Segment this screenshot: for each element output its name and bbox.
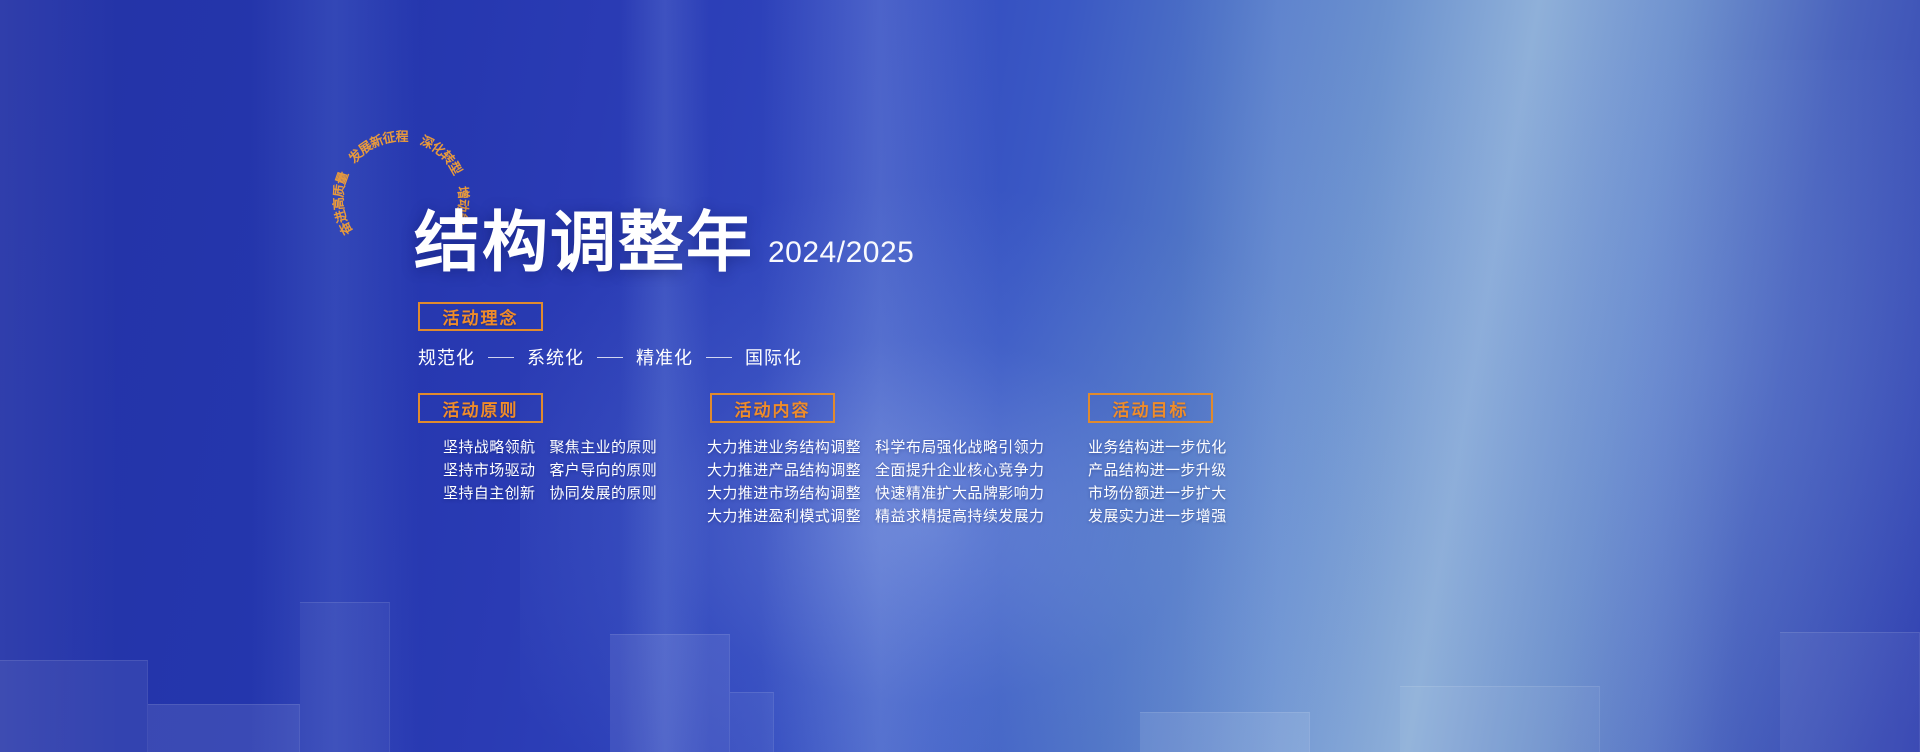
list-item-primary: 大力推进盈利模式调整 — [707, 506, 861, 528]
list-item-secondary: 快速精准扩大品牌影响力 — [875, 483, 1044, 505]
concept-separator — [488, 357, 514, 358]
list-item-secondary: 客户导向的原则 — [549, 460, 657, 482]
list-item: 产品结构进一步升级 — [1088, 460, 1227, 482]
background-band-5 — [1180, 0, 1380, 752]
decorative-block — [730, 692, 774, 752]
list-item-primary: 业务结构进一步优化 — [1088, 437, 1227, 459]
list-item: 业务结构进一步优化 — [1088, 437, 1227, 459]
background-band-6 — [1560, 0, 1740, 752]
list-item-primary: 坚持战略领航 — [443, 437, 535, 459]
ring-character: 程 — [395, 130, 409, 144]
decorative-block — [0, 660, 148, 752]
list-item-primary: 市场份额进一步扩大 — [1088, 483, 1227, 505]
decorative-block — [148, 704, 300, 752]
list-item-secondary: 精益求精提高持续发展力 — [875, 506, 1044, 528]
list-item: 大力推进盈利模式调整精益求精提高持续发展力 — [707, 506, 1044, 528]
decorative-block — [1400, 686, 1600, 752]
section-badge-goal: 活动目标 — [1088, 393, 1213, 423]
section-badge-content: 活动内容 — [710, 393, 835, 423]
goal-list: 业务结构进一步优化产品结构进一步升级市场份额进一步扩大发展实力进一步增强 — [1088, 437, 1227, 529]
list-item-primary: 坚持市场驱动 — [443, 460, 535, 482]
list-item: 坚持战略领航聚焦主业的原则 — [443, 437, 657, 459]
list-item-secondary: 全面提升企业核心竞争力 — [875, 460, 1044, 482]
section-badge-principle: 活动原则 — [418, 393, 543, 423]
list-item-secondary: 聚焦主业的原则 — [549, 437, 657, 459]
year-range: 2024/2025 — [768, 236, 914, 276]
list-item-primary: 产品结构进一步升级 — [1088, 460, 1227, 482]
list-item: 坚持自主创新协同发展的原则 — [443, 483, 657, 505]
list-item-secondary: 协同发展的原则 — [549, 483, 657, 505]
concept-item: 规范化 — [418, 344, 475, 370]
list-item-primary: 大力推进市场结构调整 — [707, 483, 861, 505]
list-item-primary: 大力推进产品结构调整 — [707, 460, 861, 482]
list-item-primary: 大力推进业务结构调整 — [707, 437, 861, 459]
list-item: 大力推进产品结构调整全面提升企业核心竞争力 — [707, 460, 1044, 482]
concept-separator — [597, 357, 623, 358]
banner-stage: 奋进高质量发展新征程深化转型增动能 结构调整年 2024/2025 活动理念 规… — [0, 0, 1920, 752]
page-title: 结构调整年 — [414, 210, 754, 276]
list-item: 发展实力进一步增强 — [1088, 506, 1227, 528]
concept-separator — [706, 357, 732, 358]
list-item: 大力推进市场结构调整快速精准扩大品牌影响力 — [707, 483, 1044, 505]
principle-list: 坚持战略领航聚焦主业的原则坚持市场驱动客户导向的原则坚持自主创新协同发展的原则 — [443, 437, 657, 506]
decorative-block — [300, 602, 390, 752]
concept-list: 规范化系统化精准化国际化 — [418, 344, 802, 370]
content-list: 大力推进业务结构调整科学布局强化战略引领力大力推进产品结构调整全面提升企业核心竞… — [707, 437, 1044, 529]
list-item: 坚持市场驱动客户导向的原则 — [443, 460, 657, 482]
title-block: 结构调整年 2024/2025 — [414, 210, 914, 276]
concept-item: 国际化 — [745, 344, 802, 370]
section-badge-idea: 活动理念 — [418, 302, 543, 331]
list-item: 大力推进业务结构调整科学布局强化战略引领力 — [707, 437, 1044, 459]
concept-item: 精准化 — [636, 344, 693, 370]
list-item-secondary: 科学布局强化战略引领力 — [875, 437, 1044, 459]
list-item-primary: 发展实力进一步增强 — [1088, 506, 1227, 528]
list-item: 市场份额进一步扩大 — [1088, 483, 1227, 505]
decorative-block — [1780, 632, 1920, 752]
decorative-block — [1140, 712, 1310, 752]
decorative-block — [610, 634, 730, 752]
list-item-primary: 坚持自主创新 — [443, 483, 535, 505]
concept-item: 系统化 — [527, 344, 584, 370]
background-band-1 — [0, 0, 120, 752]
background-band-4 — [760, 0, 1000, 752]
